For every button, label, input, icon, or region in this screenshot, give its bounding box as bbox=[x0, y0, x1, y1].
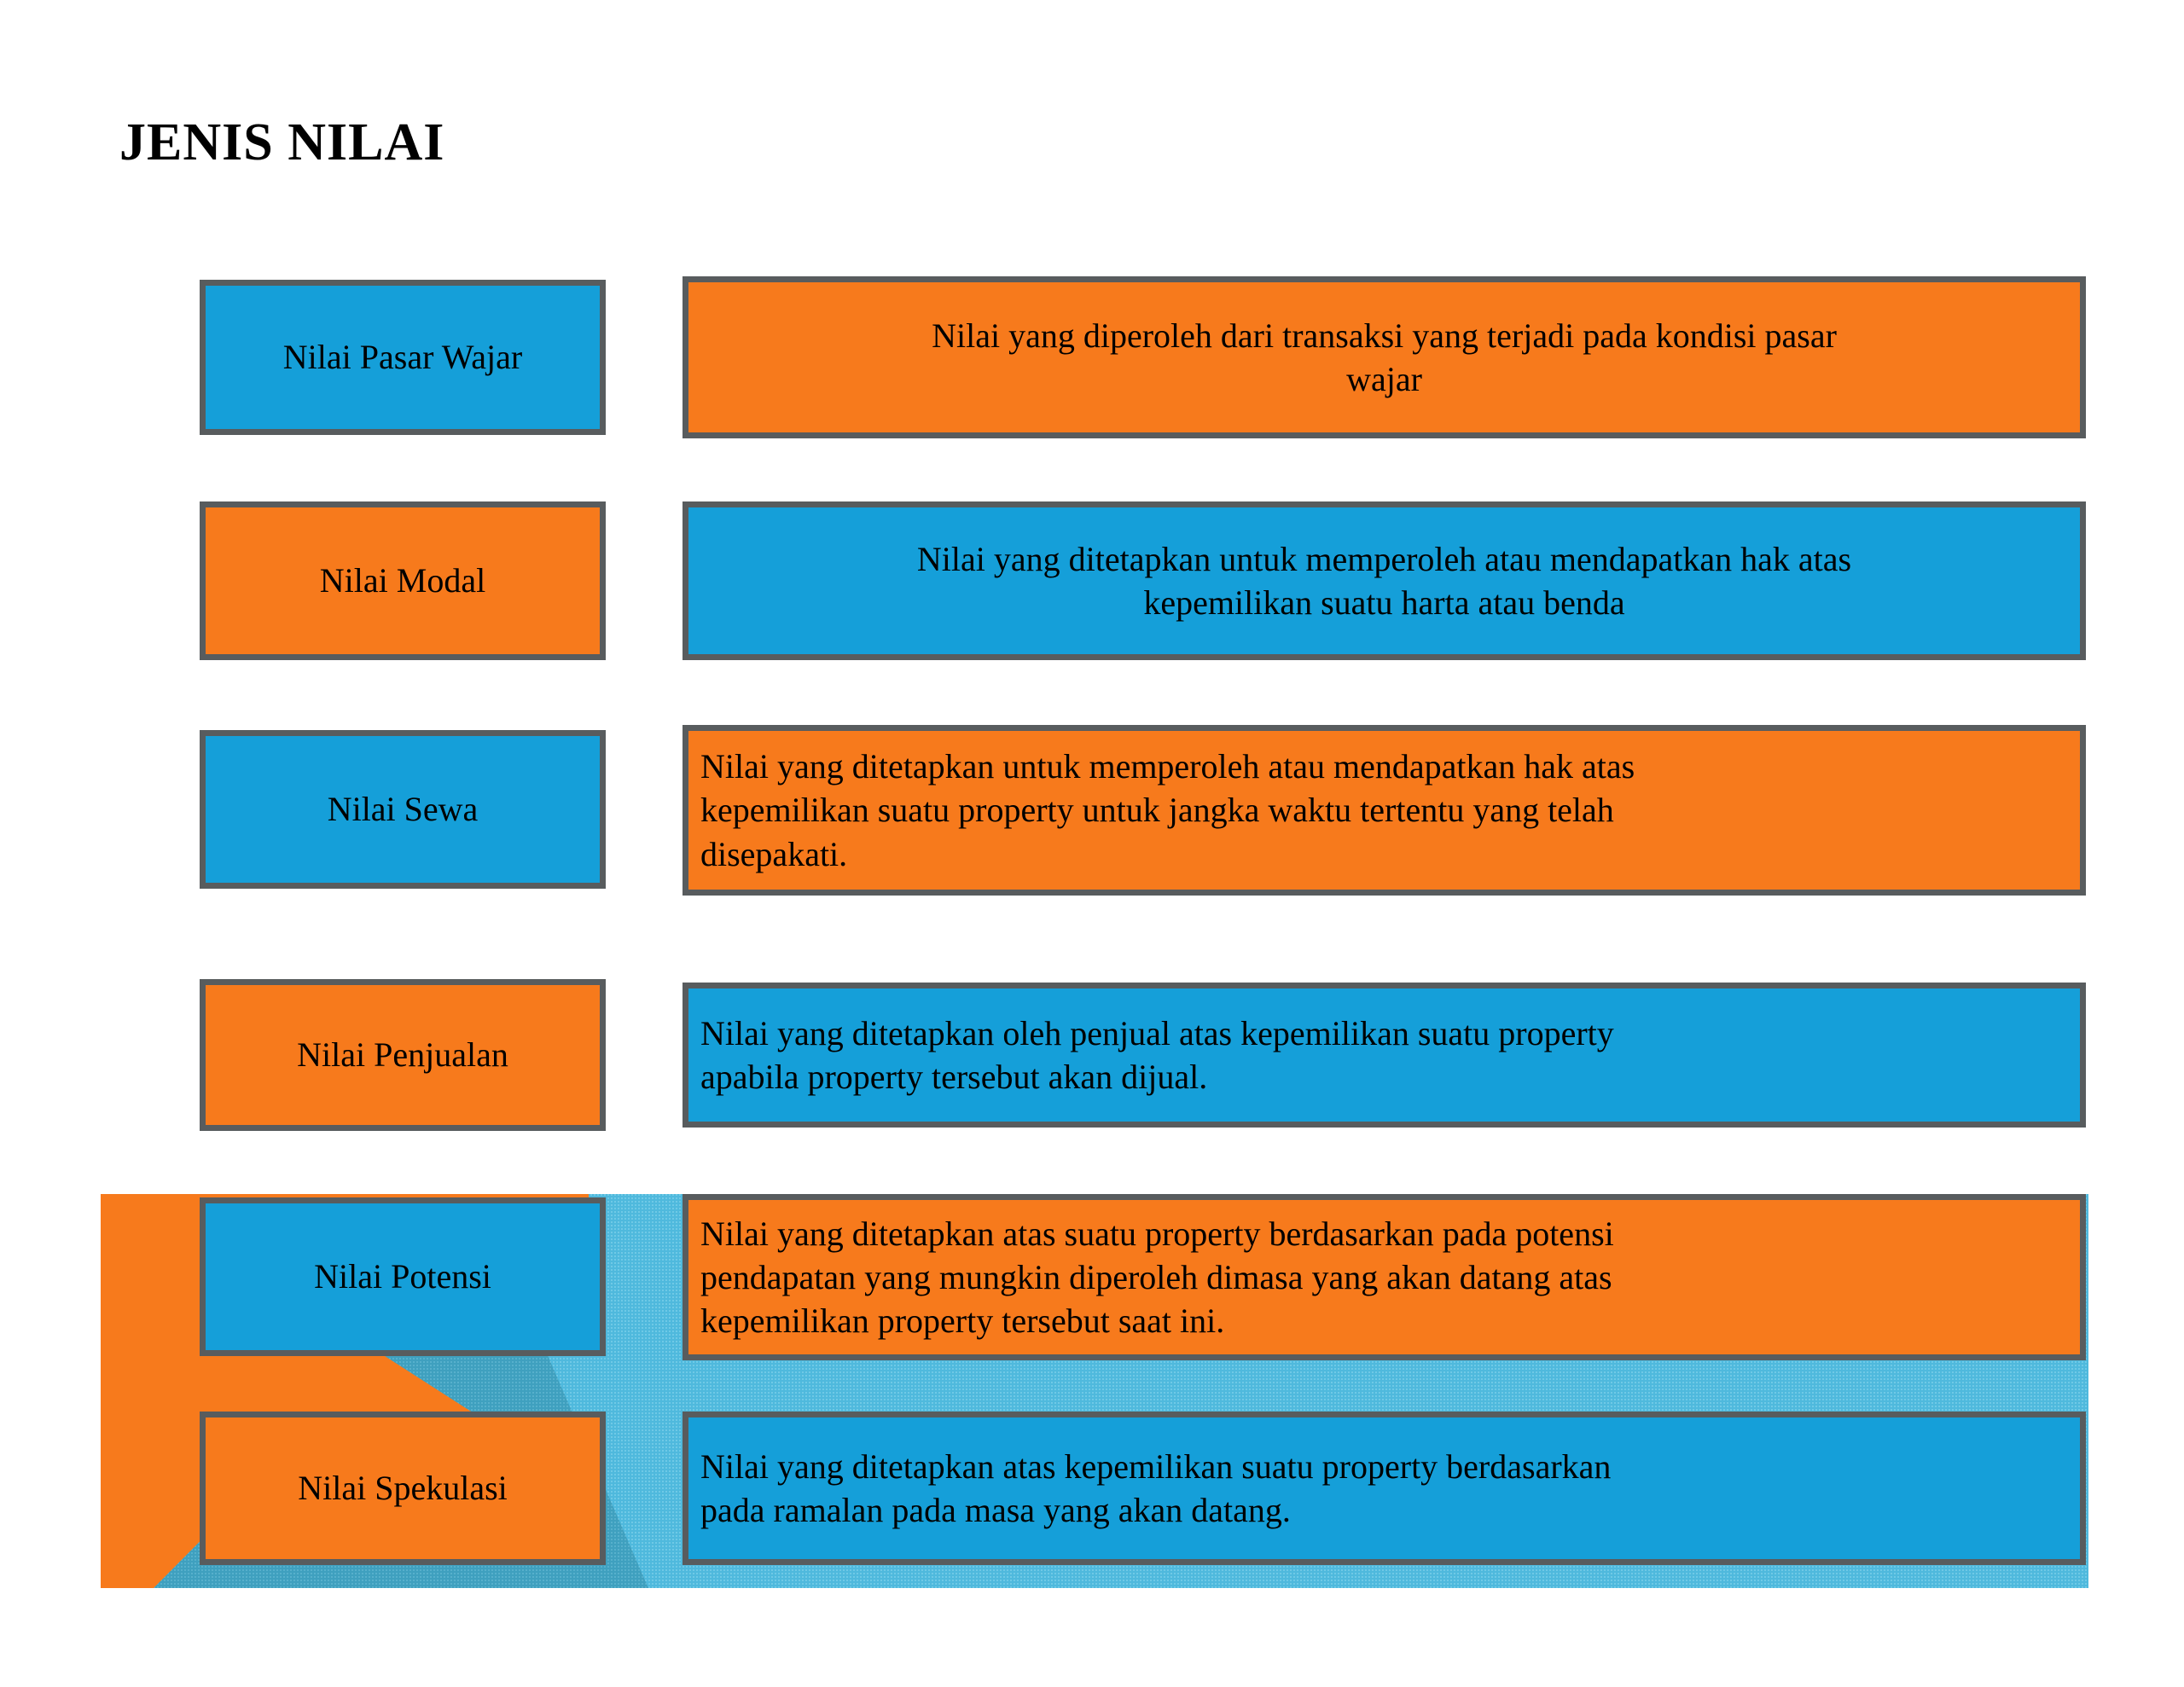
description-line: kepemilikan suatu property untuk jangka … bbox=[700, 788, 1614, 832]
label-text-5: Nilai Potensi bbox=[314, 1257, 491, 1296]
description-line: Nilai yang ditetapkan atas suatu propert… bbox=[700, 1212, 1614, 1255]
description-line: pendapatan yang mungkin diperoleh dimasa… bbox=[700, 1255, 1612, 1299]
label-box-5[interactable]: Nilai Potensi bbox=[200, 1197, 606, 1356]
description-box-2[interactable]: Nilai yang ditetapkan untuk memperoleh a… bbox=[682, 501, 2086, 660]
label-box-4[interactable]: Nilai Penjualan bbox=[200, 979, 606, 1131]
description-line: Nilai yang ditetapkan untuk memperoleh a… bbox=[700, 537, 2068, 581]
description-box-4[interactable]: Nilai yang ditetapkan oleh penjual atas … bbox=[682, 983, 2086, 1128]
label-text-2: Nilai Modal bbox=[320, 561, 485, 600]
page-title: JENIS NILAI bbox=[119, 113, 444, 173]
description-line: disepakati. bbox=[700, 832, 847, 876]
description-box-3[interactable]: Nilai yang ditetapkan untuk memperoleh a… bbox=[682, 725, 2086, 896]
description-line: apabila property tersebut akan dijual. bbox=[700, 1055, 1207, 1099]
description-line: pada ramalan pada masa yang akan datang. bbox=[700, 1488, 1291, 1532]
description-line: wajar bbox=[700, 357, 2068, 401]
description-box-6[interactable]: Nilai yang ditetapkan atas kepemilikan s… bbox=[682, 1412, 2086, 1565]
description-line: Nilai yang ditetapkan untuk memperoleh a… bbox=[700, 745, 1635, 788]
description-line: kepemilikan property tersebut saat ini. bbox=[700, 1299, 1224, 1342]
label-text-3: Nilai Sewa bbox=[328, 790, 479, 829]
description-box-5[interactable]: Nilai yang ditetapkan atas suatu propert… bbox=[682, 1194, 2086, 1360]
label-box-3[interactable]: Nilai Sewa bbox=[200, 730, 606, 889]
description-line: Nilai yang diperoleh dari transaksi yang… bbox=[700, 314, 2068, 357]
label-box-2[interactable]: Nilai Modal bbox=[200, 501, 606, 660]
description-line: Nilai yang ditetapkan atas kepemilikan s… bbox=[700, 1445, 1611, 1488]
description-line: kepemilikan suatu harta atau benda bbox=[700, 581, 2068, 624]
label-text-4: Nilai Penjualan bbox=[297, 1035, 508, 1075]
description-box-1[interactable]: Nilai yang diperoleh dari transaksi yang… bbox=[682, 276, 2086, 438]
label-text-6: Nilai Spekulasi bbox=[298, 1469, 508, 1508]
label-text-1: Nilai Pasar Wajar bbox=[283, 338, 522, 377]
slide-canvas: JENIS NILAI Nilai Pasar Wajar Nilai yang… bbox=[0, 0, 2184, 1687]
description-line: Nilai yang ditetapkan oleh penjual atas … bbox=[700, 1012, 1614, 1055]
label-box-6[interactable]: Nilai Spekulasi bbox=[200, 1412, 606, 1565]
label-box-1[interactable]: Nilai Pasar Wajar bbox=[200, 280, 606, 435]
